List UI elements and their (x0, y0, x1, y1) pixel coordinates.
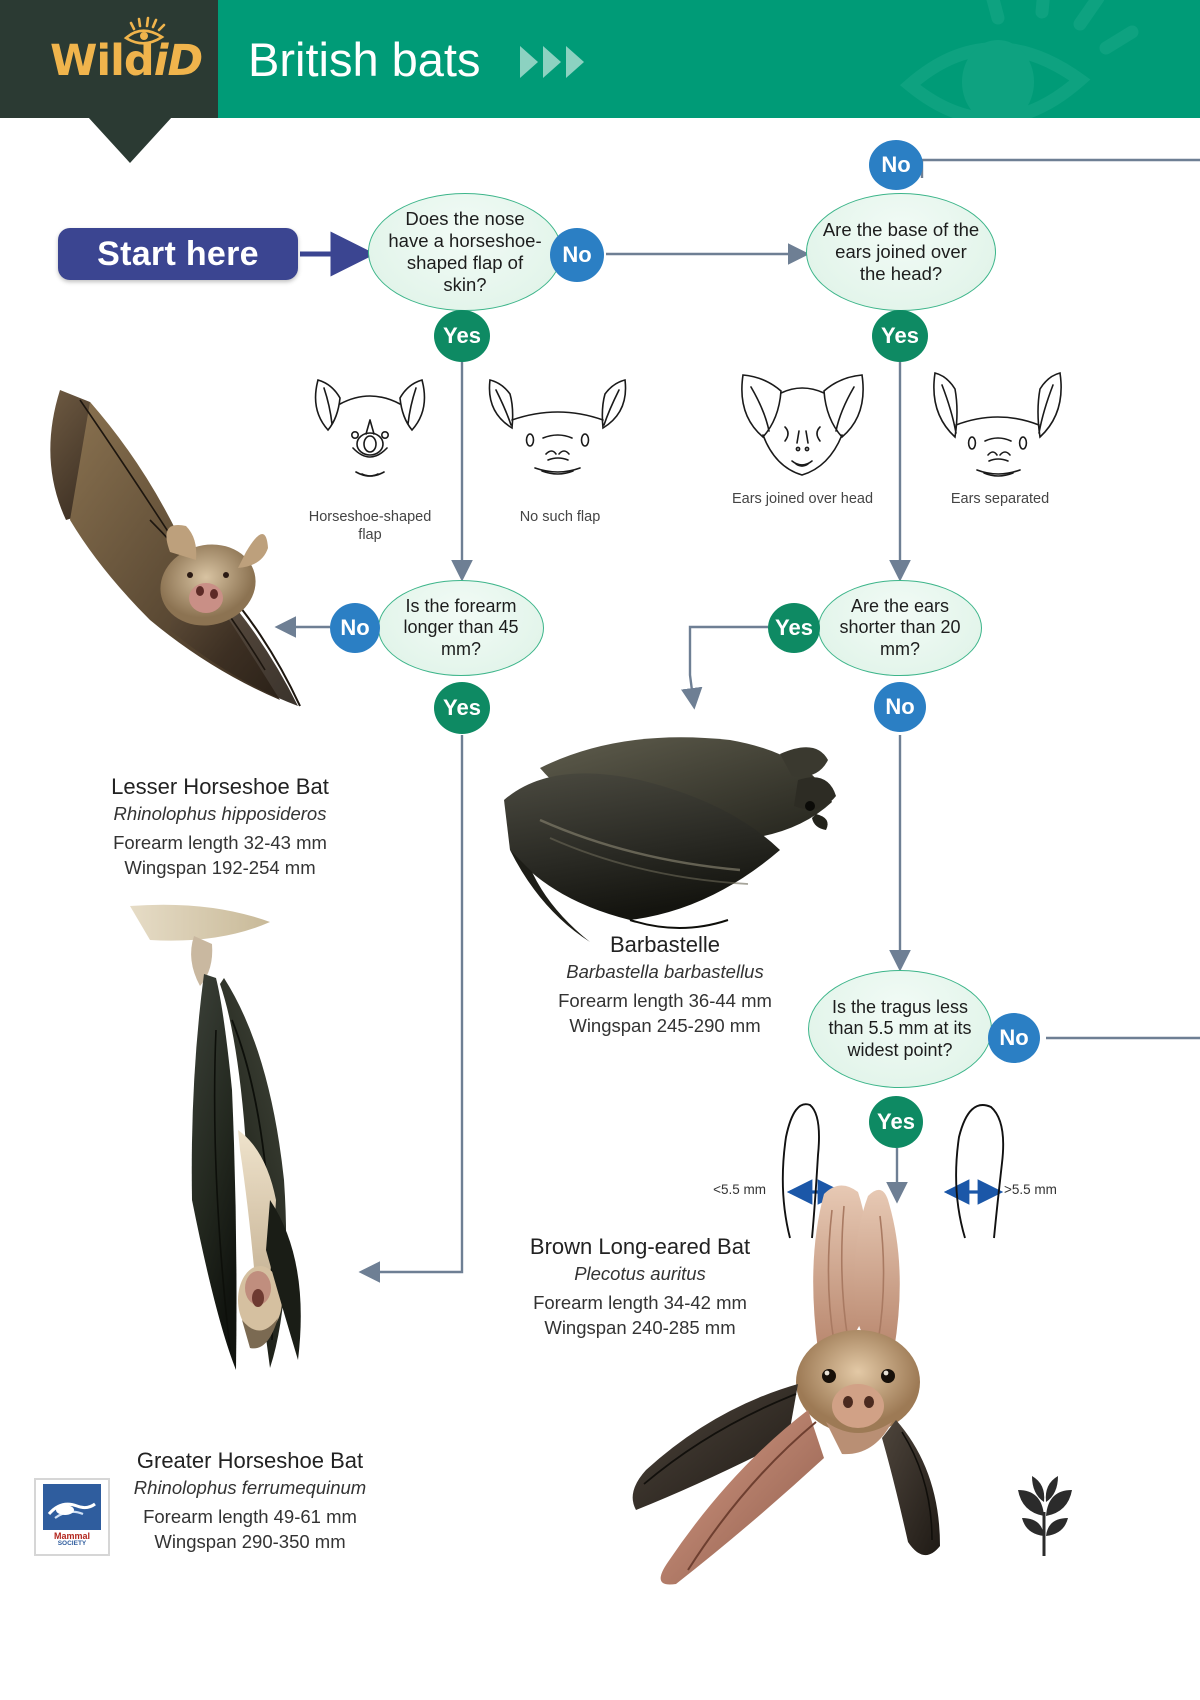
badge-yes-q3[interactable]: Yes (434, 682, 490, 734)
question-text: Are the ears shorter than 20 mm? (833, 596, 967, 660)
start-here-label: Start here (97, 235, 259, 274)
badge-no-q2[interactable]: No (869, 140, 923, 190)
badge-yes-q4[interactable]: Yes (768, 603, 820, 653)
badge-label: Yes (443, 323, 481, 349)
species-forearm: Forearm length 49-61 mm (90, 1505, 410, 1529)
mammal-society-line2: SOCIETY (58, 1541, 87, 1548)
badge-yes-q2[interactable]: Yes (872, 310, 928, 362)
question-text: Does the nose have a horseshoe-shaped fl… (383, 208, 547, 295)
caption-ears-joined: Ears joined over head (730, 490, 875, 508)
species-wingspan: Wingspan 245-290 mm (520, 1014, 810, 1038)
question-node-nose-flap[interactable]: Does the nose have a horseshoe-shaped fl… (368, 193, 562, 311)
badge-label: Yes (881, 323, 919, 349)
question-node-forearm-length[interactable]: Is the forearm longer than 45 mm? (378, 580, 544, 676)
leaf-sprig-icon (1008, 1472, 1082, 1558)
species-wingspan: Wingspan 192-254 mm (60, 856, 380, 880)
photo-barbastelle (480, 710, 850, 960)
bat-face-no-flap-icon (480, 368, 635, 488)
species-forearm: Forearm length 36-44 mm (520, 989, 810, 1013)
mammal-society-emblem (43, 1484, 101, 1530)
badge-label: No (340, 615, 369, 641)
photo-lesser-horseshoe-bat (30, 370, 360, 770)
badge-no-q5[interactable]: No (988, 1013, 1040, 1063)
species-block-brown-long-eared-bat: Brown Long-eared Bat Plecotus auritus Fo… (480, 1232, 800, 1340)
logo-word-id: iD (154, 36, 202, 86)
question-text: Is the tragus less than 5.5 mm at its wi… (823, 997, 977, 1061)
badge-no-q1[interactable]: No (550, 228, 604, 282)
badge-label: Yes (775, 615, 813, 641)
species-latin-name: Barbastella barbastellus (520, 960, 810, 984)
question-node-tragus-width[interactable]: Is the tragus less than 5.5 mm at its wi… (808, 970, 992, 1088)
wildid-logo-text: WildiD (50, 36, 202, 86)
species-block-barbastelle: Barbastelle Barbastella barbastellus For… (520, 930, 810, 1038)
species-block-greater-horseshoe-bat: Greater Horseshoe Bat Rhinolophus ferrum… (90, 1446, 410, 1554)
species-forearm: Forearm length 34-42 mm (480, 1291, 800, 1315)
species-latin-name: Rhinolophus hipposideros (60, 802, 380, 826)
badge-label: No (885, 694, 914, 720)
eye-watermark-icon (870, 0, 1170, 118)
species-latin-name: Rhinolophus ferrumequinum (90, 1476, 410, 1500)
badge-label: No (999, 1025, 1028, 1051)
question-node-ear-length[interactable]: Are the ears shorter than 20 mm? (818, 580, 982, 676)
photo-greater-horseshoe-bat (120, 900, 380, 1430)
badge-yes-q5[interactable]: Yes (869, 1096, 923, 1148)
caption-ears-separated: Ears separated (930, 490, 1070, 508)
page-title: British bats (248, 32, 480, 87)
species-common-name: Brown Long-eared Bat (480, 1232, 800, 1261)
species-block-lesser-horseshoe-bat: Lesser Horseshoe Bat Rhinolophus hipposi… (60, 772, 380, 880)
start-here-button[interactable]: Start here (58, 228, 298, 280)
badge-no-q4[interactable]: No (874, 682, 926, 732)
question-text: Is the forearm longer than 45 mm? (393, 596, 529, 660)
badge-yes-q1[interactable]: Yes (434, 310, 490, 362)
logo-tail-shape (88, 117, 172, 163)
caption-no-flap: No such flap (485, 508, 635, 526)
species-wingspan: Wingspan 290-350 mm (90, 1530, 410, 1554)
mammal-society-logo[interactable]: Mammal SOCIETY (34, 1478, 110, 1556)
bat-face-ears-separated-icon (925, 365, 1070, 490)
question-node-ears-joined[interactable]: Are the base of the ears joined over the… (806, 193, 996, 311)
question-text: Are the base of the ears joined over the… (821, 219, 981, 284)
species-wingspan: Wingspan 240-285 mm (480, 1316, 800, 1340)
species-latin-name: Plecotus auritus (480, 1262, 800, 1286)
badge-label: Yes (443, 695, 481, 721)
triple-chevron-right-icon (520, 46, 584, 78)
badge-no-q3[interactable]: No (330, 603, 380, 653)
logo-word-wild: Wild (50, 36, 154, 86)
species-forearm: Forearm length 32-43 mm (60, 831, 380, 855)
wildid-logo-panel: WildiD (0, 0, 218, 118)
badge-label: No (562, 242, 591, 268)
badge-label: No (881, 152, 910, 178)
species-common-name: Lesser Horseshoe Bat (60, 772, 380, 801)
badge-label: Yes (877, 1109, 915, 1135)
species-common-name: Barbastelle (520, 930, 810, 959)
species-common-name: Greater Horseshoe Bat (90, 1446, 410, 1475)
bat-face-ears-joined-icon (735, 365, 870, 490)
